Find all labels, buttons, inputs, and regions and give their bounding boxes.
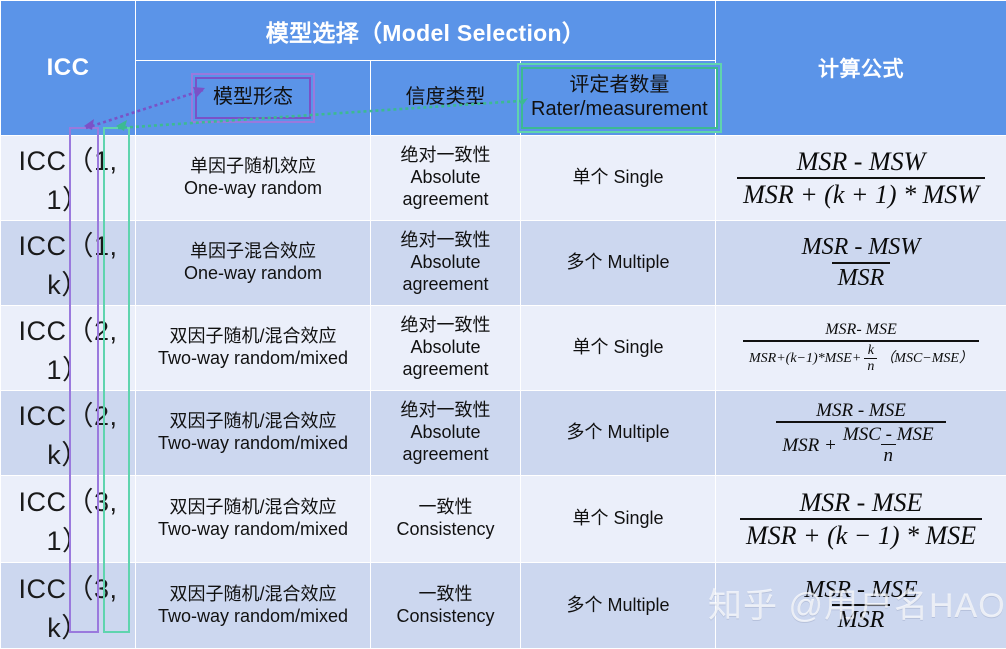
cell-model-en: One-way random bbox=[136, 178, 370, 200]
formula-numerator: MSR - MSW bbox=[791, 148, 932, 176]
cell-model-en: Two-way random/mixed bbox=[136, 433, 370, 455]
cell-reliability-cn: 绝对一致性 bbox=[371, 315, 520, 337]
icc-summary-table: ICC 模型选择（Model Selection） 计算公式 模型形态 信度类型… bbox=[0, 0, 1006, 649]
header-rater-count-en: Rater/measurement bbox=[531, 98, 708, 122]
formula-numerator: MSR - MSW bbox=[796, 235, 927, 261]
formula-denominator-inline-fraction: k n bbox=[864, 344, 877, 374]
cell-icc: ICC（1, 1） bbox=[1, 136, 136, 221]
cell-model: 双因子随机/混合效应 Two-way random/mixed bbox=[136, 391, 371, 476]
cell-model-cn: 双因子随机/混合效应 bbox=[136, 497, 370, 519]
cell-rater-cn: 单个 bbox=[572, 167, 608, 187]
cell-rater-cn: 多个 bbox=[566, 252, 602, 272]
formula-numerator: MSR- MSE bbox=[819, 322, 903, 340]
cell-reliability-cn: 绝对一致性 bbox=[371, 145, 520, 167]
rater-count-highlight-box: 评定者数量 Rater/measurement bbox=[521, 67, 718, 128]
cell-rater-cn: 单个 bbox=[572, 508, 608, 528]
cell-reliability-en: Consistency bbox=[371, 519, 520, 541]
cell-rater: 多个 Multiple bbox=[521, 563, 716, 649]
watermark: 知乎 @用户名HAO bbox=[708, 578, 1006, 627]
table-row: ICC（2, 1） 双因子随机/混合效应 Two-way random/mixe… bbox=[1, 306, 1006, 391]
table-row: ICC（1, k） 单因子混合效应 One-way random 绝对一致性 A… bbox=[1, 221, 1006, 306]
header-model-form-label: 模型形态 bbox=[213, 86, 293, 108]
table-row: ICC（1, 1） 单因子随机效应 One-way random 绝对一致性 A… bbox=[1, 136, 1006, 221]
cell-reliability-en: Absolute agreement bbox=[371, 167, 520, 211]
formula-denominator: MSR + (k − 1) * MSE bbox=[740, 518, 982, 549]
cell-reliability-cn: 一致性 bbox=[371, 497, 520, 519]
header-icc: ICC bbox=[1, 1, 136, 136]
cell-model: 双因子随机/混合效应 Two-way random/mixed bbox=[136, 476, 371, 563]
cell-reliability: 绝对一致性 Absolute agreement bbox=[371, 136, 521, 221]
cell-rater-en: Single bbox=[613, 167, 663, 187]
cell-formula: MSR- MSE MSR+(k−1)*MSE+ k n （MSC−MSE） bbox=[716, 306, 1006, 391]
header-rater-count-cn: 评定者数量 bbox=[531, 74, 708, 98]
cell-reliability: 绝对一致性 Absolute agreement bbox=[371, 391, 521, 476]
cell-model: 双因子随机/混合效应 Two-way random/mixed bbox=[136, 306, 371, 391]
cell-rater-cn: 多个 bbox=[566, 422, 602, 442]
cell-rater-cn: 多个 bbox=[566, 595, 602, 615]
formula-denominator-part1: MSR + bbox=[782, 436, 837, 456]
cell-model-en: Two-way random/mixed bbox=[136, 606, 370, 628]
model-form-highlight-box: 模型形态 bbox=[195, 77, 311, 119]
cell-rater: 单个 Single bbox=[521, 476, 716, 563]
header-rater-count: 评定者数量 Rater/measurement bbox=[521, 61, 716, 136]
cell-model-en: Two-way random/mixed bbox=[136, 519, 370, 541]
cell-reliability: 一致性 Consistency bbox=[371, 476, 521, 563]
cell-model-cn: 双因子随机/混合效应 bbox=[136, 326, 370, 348]
cell-formula: MSR - MSW MSR bbox=[716, 221, 1006, 306]
formula-icc31: MSR - MSE MSR + (k − 1) * MSE bbox=[716, 476, 1006, 562]
cell-rater: 多个 Multiple bbox=[521, 221, 716, 306]
cell-formula: MSR - MSE MSR + (k − 1) * MSE bbox=[716, 476, 1006, 563]
formula-denominator: MSR + (k + 1) * MSW bbox=[737, 177, 985, 208]
cell-reliability: 一致性 Consistency bbox=[371, 563, 521, 649]
cell-rater-en: Multiple bbox=[607, 422, 669, 442]
header-reliability-type: 信度类型 bbox=[371, 61, 521, 136]
table-header: ICC 模型选择（Model Selection） 计算公式 模型形态 信度类型… bbox=[1, 1, 1006, 136]
formula-icc1k: MSR - MSW MSR bbox=[716, 221, 1006, 305]
cell-icc: ICC（1, k） bbox=[1, 221, 136, 306]
cell-rater-en: Multiple bbox=[607, 252, 669, 272]
table-row: ICC（3, 1） 双因子随机/混合效应 Two-way random/mixe… bbox=[1, 476, 1006, 563]
formula-icc2k: MSR - MSE MSR + MSC - MSE n bbox=[716, 391, 1006, 475]
header-model-form: 模型形态 bbox=[136, 61, 371, 136]
formula-icc21: MSR- MSE MSR+(k−1)*MSE+ k n （MSC−MSE） bbox=[716, 306, 1006, 390]
cell-model: 单因子混合效应 One-way random bbox=[136, 221, 371, 306]
cell-reliability-en: Absolute agreement bbox=[371, 422, 520, 466]
formula-numerator: MSR - MSE bbox=[794, 489, 929, 517]
cell-reliability-en: Consistency bbox=[371, 606, 520, 628]
cell-model-cn: 双因子随机/混合效应 bbox=[136, 411, 370, 433]
cell-model-cn: 双因子随机/混合效应 bbox=[136, 584, 370, 606]
formula-icc11: MSR - MSW MSR + (k + 1) * MSW bbox=[716, 136, 1006, 220]
cell-rater-cn: 单个 bbox=[572, 337, 608, 357]
cell-rater-en: Multiple bbox=[607, 595, 669, 615]
formula-inline-numerator: MSC - MSE bbox=[840, 425, 937, 444]
cell-reliability-cn: 一致性 bbox=[371, 584, 520, 606]
formula-inline-denominator: n bbox=[864, 358, 877, 374]
cell-model-cn: 单因子混合效应 bbox=[136, 241, 370, 263]
header-calculation-formula: 计算公式 bbox=[716, 1, 1006, 136]
cell-model: 单因子随机效应 One-way random bbox=[136, 136, 371, 221]
cell-icc: ICC（2, k） bbox=[1, 391, 136, 476]
cell-rater-en: Single bbox=[613, 337, 663, 357]
formula-numerator: MSR - MSE bbox=[810, 401, 912, 422]
cell-model-cn: 单因子随机效应 bbox=[136, 156, 370, 178]
cell-rater-en: Single bbox=[613, 508, 663, 528]
formula-denominator-inline-fraction: MSC - MSE n bbox=[840, 425, 937, 465]
header-reliability-type-label: 信度类型 bbox=[406, 86, 486, 108]
cell-reliability-cn: 绝对一致性 bbox=[371, 400, 520, 422]
cell-reliability-en: Absolute agreement bbox=[371, 252, 520, 296]
cell-rater: 单个 Single bbox=[521, 136, 716, 221]
cell-model: 双因子随机/混合效应 Two-way random/mixed bbox=[136, 563, 371, 649]
table-row: ICC（2, k） 双因子随机/混合效应 Two-way random/mixe… bbox=[1, 391, 1006, 476]
table-body: ICC（1, 1） 单因子随机效应 One-way random 绝对一致性 A… bbox=[1, 136, 1006, 649]
cell-reliability: 绝对一致性 Absolute agreement bbox=[371, 306, 521, 391]
cell-rater: 单个 Single bbox=[521, 306, 716, 391]
formula-denominator-part2: （MSC−MSE） bbox=[880, 352, 973, 367]
cell-icc: ICC（2, 1） bbox=[1, 306, 136, 391]
cell-reliability: 绝对一致性 Absolute agreement bbox=[371, 221, 521, 306]
cell-reliability-cn: 绝对一致性 bbox=[371, 230, 520, 252]
cell-rater: 多个 Multiple bbox=[521, 391, 716, 476]
formula-inline-denominator: n bbox=[881, 444, 897, 465]
cell-icc: ICC（3, 1） bbox=[1, 476, 136, 563]
formula-denominator-part1: MSR+(k−1)*MSE+ bbox=[749, 352, 861, 367]
formula-inline-numerator: k bbox=[865, 344, 877, 358]
cell-formula: MSR - MSE MSR + MSC - MSE n bbox=[716, 391, 1006, 476]
cell-reliability-en: Absolute agreement bbox=[371, 337, 520, 381]
cell-icc: ICC（3, k） bbox=[1, 563, 136, 649]
header-model-selection: 模型选择（Model Selection） bbox=[136, 1, 716, 61]
formula-denominator: MSR bbox=[832, 262, 891, 291]
icc-table-figure: ICC 模型选择（Model Selection） 计算公式 模型形态 信度类型… bbox=[0, 0, 1006, 648]
cell-model-en: One-way random bbox=[136, 263, 370, 285]
cell-formula: MSR - MSW MSR + (k + 1) * MSW bbox=[716, 136, 1006, 221]
cell-model-en: Two-way random/mixed bbox=[136, 348, 370, 370]
